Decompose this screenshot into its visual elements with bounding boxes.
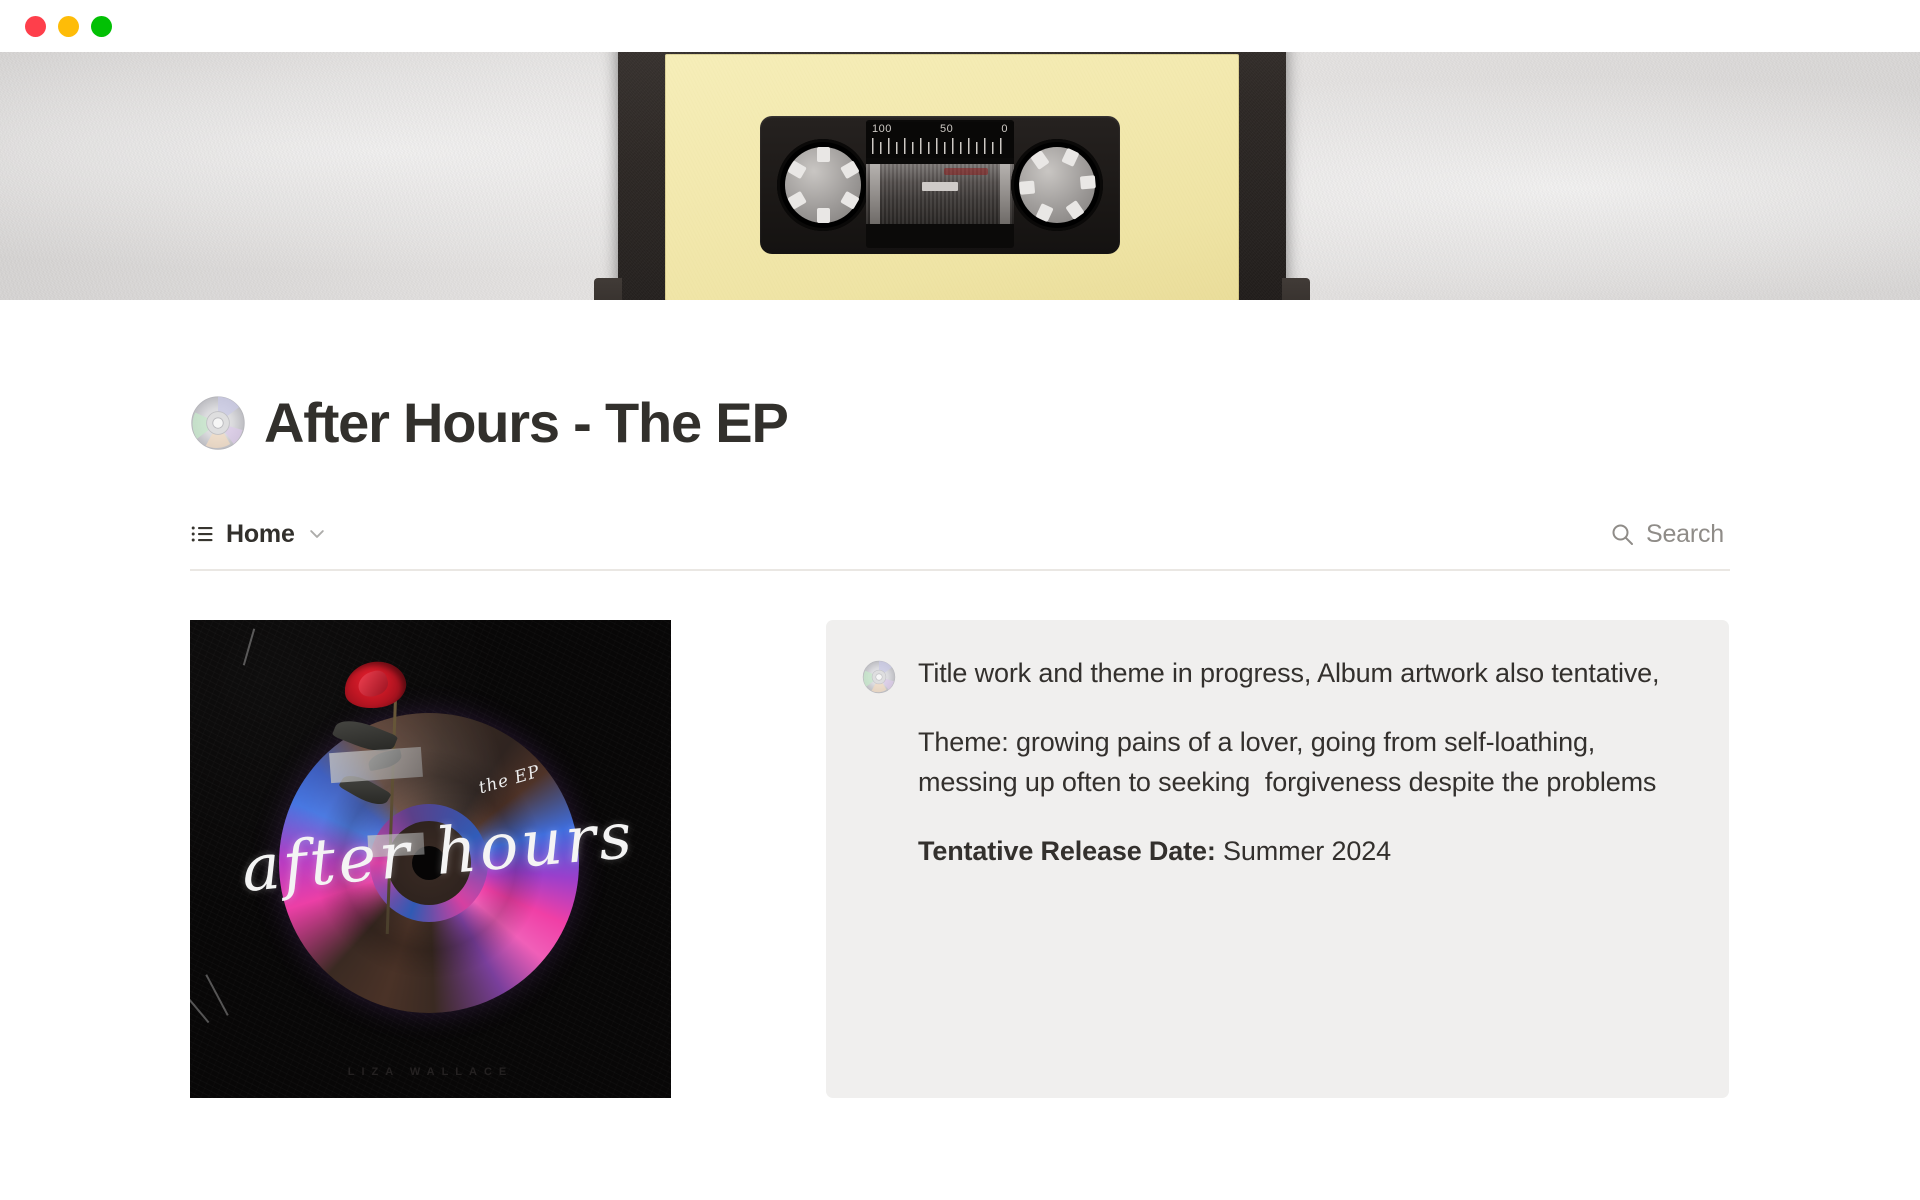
callout-paragraph-2: Theme: growing pains of a lover, going f… bbox=[918, 723, 1689, 803]
maximize-window-button[interactable] bbox=[91, 16, 112, 37]
list-icon bbox=[190, 522, 214, 546]
chevron-down-icon[interactable] bbox=[307, 524, 327, 544]
album-artwork-image[interactable]: the EP after hours LIZA WALLACE bbox=[190, 620, 671, 1098]
optical-disc-icon bbox=[862, 660, 896, 694]
spool-tooth bbox=[817, 208, 830, 223]
tape-center-hub bbox=[922, 182, 958, 191]
spool-tooth bbox=[1030, 150, 1049, 170]
content-columns: the EP after hours LIZA WALLACE bbox=[190, 620, 1730, 1098]
spool-tooth bbox=[787, 160, 806, 179]
release-date-label: Tentative Release Date: bbox=[918, 836, 1216, 866]
cassette-left-notch bbox=[594, 278, 622, 300]
search-icon[interactable] bbox=[1610, 522, 1634, 546]
search-label[interactable]: Search bbox=[1646, 520, 1724, 549]
view-selector[interactable]: Home bbox=[190, 520, 327, 555]
window-title-bar bbox=[0, 0, 1920, 52]
spool-tooth bbox=[1061, 148, 1079, 167]
callout-block[interactable]: Title work and theme in progress, Album … bbox=[826, 620, 1729, 1098]
search-control[interactable]: Search bbox=[1610, 520, 1730, 555]
spool-tooth bbox=[1035, 203, 1053, 222]
minimize-window-button[interactable] bbox=[58, 16, 79, 37]
tape-counter-tick-0: 0 bbox=[1001, 123, 1008, 135]
cassette-left-spool bbox=[777, 139, 869, 231]
tape-counter-ticks bbox=[872, 142, 1008, 154]
page-navigation-bar: Home Search bbox=[190, 505, 1730, 571]
callout-paragraph-1: Title work and theme in progress, Album … bbox=[918, 654, 1689, 694]
tape-right-post bbox=[1000, 164, 1010, 224]
spool-tooth bbox=[840, 160, 859, 179]
callout-release-line: Tentative Release Date: Summer 2024 bbox=[918, 832, 1689, 872]
tape-counter-tick-100: 100 bbox=[872, 123, 892, 135]
artwork-artist-credit: LIZA WALLACE bbox=[190, 1066, 671, 1078]
cassette-tape-reels bbox=[866, 164, 1014, 224]
cassette-right-notch bbox=[1282, 278, 1310, 300]
view-name-label: Home bbox=[226, 520, 295, 549]
cassette-tape-window: 100 50 0 bbox=[866, 120, 1014, 248]
spool-tooth bbox=[787, 191, 806, 210]
page-cover-image[interactable]: 100 50 0 bbox=[0, 52, 1920, 300]
spool-tooth bbox=[1019, 181, 1035, 195]
page-title: After Hours - The EP bbox=[264, 395, 788, 451]
cassette-tape-graphic: 100 50 0 bbox=[618, 52, 1286, 300]
spool-tooth bbox=[1065, 200, 1084, 220]
cassette-right-spool bbox=[1011, 139, 1103, 231]
spool-tooth bbox=[817, 147, 830, 162]
tape-counter-scale: 100 50 0 bbox=[866, 122, 1014, 158]
tape-red-marker bbox=[944, 168, 988, 175]
right-spool-hub bbox=[1019, 147, 1095, 223]
artwork-tape-strip bbox=[329, 747, 423, 783]
optical-disc-icon bbox=[190, 395, 246, 451]
tape-counter-tick-50: 50 bbox=[940, 123, 953, 135]
traffic-light-controls bbox=[25, 16, 112, 37]
page-title-row: After Hours - The EP bbox=[190, 395, 788, 451]
spool-tooth bbox=[840, 191, 859, 210]
tape-counter-numbers: 100 50 0 bbox=[866, 123, 1014, 135]
tape-left-post bbox=[870, 164, 880, 224]
left-spool-hub bbox=[785, 147, 861, 223]
callout-text-content[interactable]: Title work and theme in progress, Album … bbox=[918, 654, 1689, 872]
close-window-button[interactable] bbox=[25, 16, 46, 37]
release-date-value: Summer 2024 bbox=[1216, 836, 1391, 866]
cassette-window-frame: 100 50 0 bbox=[760, 116, 1120, 254]
spool-tooth bbox=[1079, 175, 1095, 189]
